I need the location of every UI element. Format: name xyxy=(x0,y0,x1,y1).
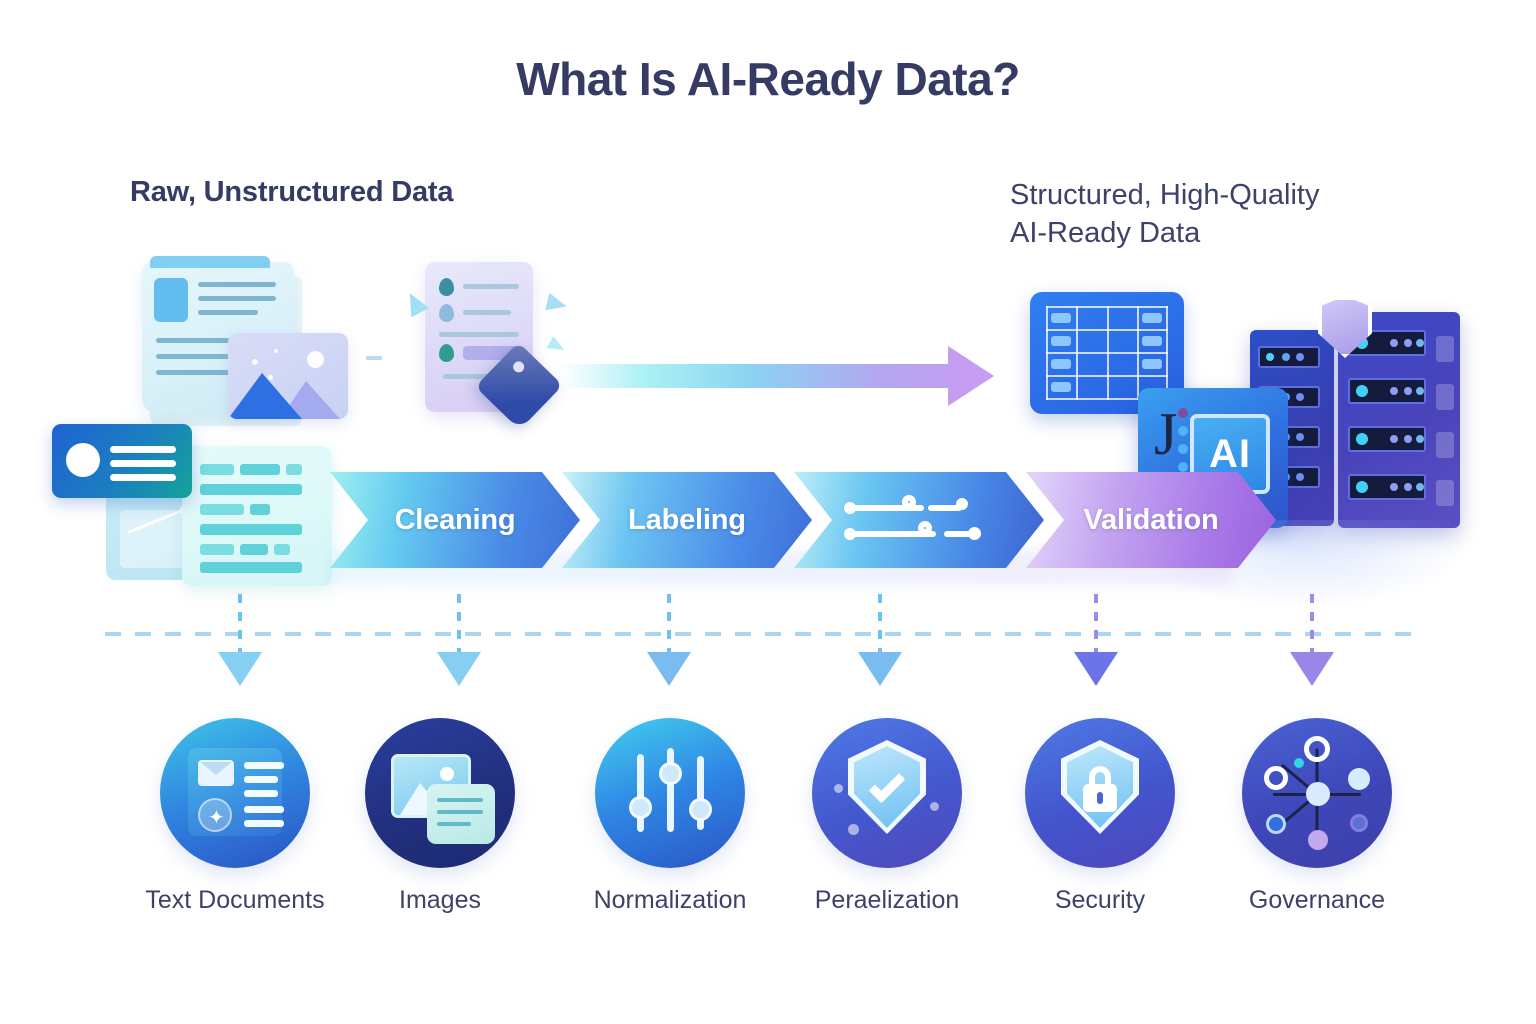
flow-arrow-shaft xyxy=(560,364,960,388)
category-normalization[interactable]: Normalization xyxy=(595,718,745,915)
sparkle-icon xyxy=(547,336,568,356)
pipeline-step-validation[interactable]: Validation xyxy=(1026,472,1276,568)
pipeline-step-cleaning[interactable]: Cleaning xyxy=(330,472,580,568)
connector-drop xyxy=(457,594,461,656)
connector-drop xyxy=(1310,594,1314,656)
sliders-icon xyxy=(844,491,994,549)
pipeline-step-label: Labeling xyxy=(628,504,746,537)
category-label: Normalization xyxy=(555,886,785,915)
image-icon xyxy=(365,718,515,868)
pipeline-step-label: Validation xyxy=(1084,504,1219,537)
shield-check-icon xyxy=(812,718,962,868)
pipeline-step-labeling[interactable]: Labeling xyxy=(562,472,812,568)
right-section-header: Structured, High-Quality AI-Ready Data xyxy=(1010,176,1462,253)
connector-drop xyxy=(238,594,242,656)
category-label: Security xyxy=(1025,886,1175,915)
down-arrow-icon xyxy=(437,652,481,686)
chip-glyph: J xyxy=(1154,404,1177,464)
down-arrow-icon xyxy=(218,652,262,686)
document-icon: ✦ xyxy=(160,718,310,868)
connector-drop xyxy=(1094,594,1098,656)
right-arrow-icon xyxy=(948,346,994,406)
down-arrow-icon xyxy=(647,652,691,686)
profile-card-icon xyxy=(52,424,192,498)
left-section-header: Raw, Unstructured Data xyxy=(130,176,453,209)
dash-marker xyxy=(366,356,382,360)
right-header-line1: Structured, High-Quality xyxy=(1010,179,1319,211)
data-sheet-icon xyxy=(182,446,332,586)
category-governance[interactable]: Governance xyxy=(1242,718,1392,915)
category-images[interactable]: Images xyxy=(365,718,515,915)
category-security[interactable]: Security xyxy=(1025,718,1175,915)
category-label: Governance xyxy=(1242,886,1392,915)
pipeline-band: Cleaning Labeling Validation xyxy=(330,472,1230,568)
pipeline-step-normalization[interactable] xyxy=(794,472,1044,568)
down-arrow-icon xyxy=(1074,652,1118,686)
page-title: What Is AI-Ready Data? xyxy=(0,52,1536,106)
category-peraelization[interactable]: Peraelization xyxy=(812,718,962,915)
image-card-icon xyxy=(228,333,348,419)
chip-label: AI xyxy=(1209,432,1251,477)
category-label: Peraelization xyxy=(772,886,1002,915)
network-icon xyxy=(1242,718,1392,868)
sparkle-icon xyxy=(545,293,569,315)
category-label: Text Documents xyxy=(120,886,350,915)
down-arrow-icon xyxy=(858,652,902,686)
pipeline-step-label: Cleaning xyxy=(395,504,516,537)
shield-lock-icon xyxy=(1025,718,1175,868)
infographic-canvas: What Is AI-Ready Data? Raw, Unstructured… xyxy=(0,0,1536,1024)
down-arrow-icon xyxy=(1290,652,1334,686)
right-header-line2: AI-Ready Data xyxy=(1010,214,1462,252)
connector-line xyxy=(105,632,1425,636)
connector-drop xyxy=(878,594,882,656)
connector-drop xyxy=(667,594,671,656)
category-label: Images xyxy=(365,886,515,915)
category-text-documents[interactable]: ✦ Text Documents xyxy=(160,718,310,915)
sliders-icon xyxy=(595,718,745,868)
